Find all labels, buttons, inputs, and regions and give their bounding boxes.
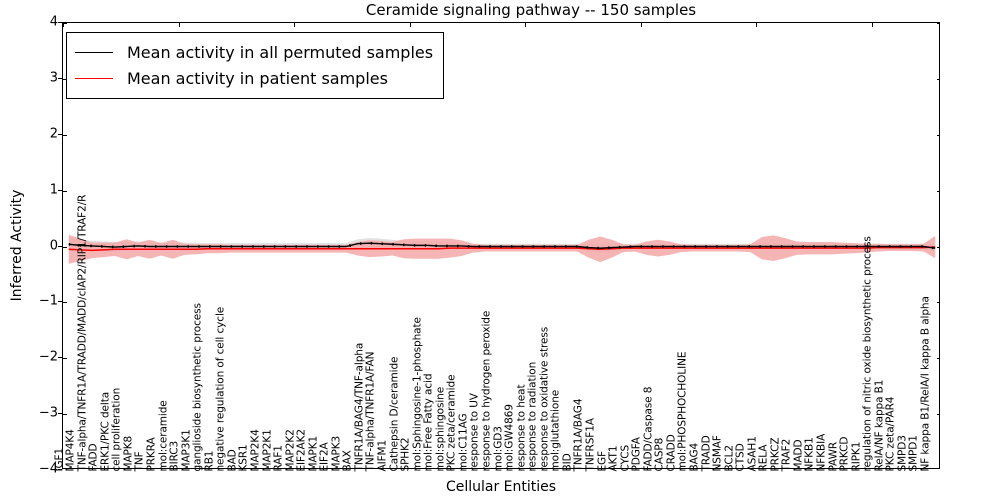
x-tick-mark <box>179 23 180 27</box>
x-axis-label: Cellular Entities <box>62 479 940 495</box>
legend-entry-patient: Mean activity in patient samples <box>75 65 433 91</box>
y-tick-label: 2 <box>18 126 58 141</box>
y-tick-label: 1 <box>18 182 58 197</box>
y-tick-mark <box>63 302 67 303</box>
y-tick-mark <box>63 247 67 248</box>
chart-figure: Ceramide signaling pathway -- 150 sample… <box>0 0 1000 500</box>
legend: Mean activity in all permuted samples Me… <box>66 32 444 99</box>
y-tick-label: 0 <box>18 238 58 253</box>
legend-swatch-patient <box>75 78 113 79</box>
y-tick-label: 3 <box>18 70 58 85</box>
legend-entry-permuted: Mean activity in all permuted samples <box>75 39 433 65</box>
y-tick-mark <box>63 191 67 192</box>
y-tick-mark <box>937 414 940 415</box>
page-title: Ceramide signaling pathway -- 150 sample… <box>62 1 1000 19</box>
legend-swatch-permuted <box>75 52 113 53</box>
y-tick-label: −3 <box>18 406 58 421</box>
x-tick-mark <box>525 23 526 27</box>
y-tick-mark <box>937 358 940 359</box>
y-tick-mark <box>937 135 940 136</box>
y-tick-mark <box>937 191 940 192</box>
y-tick-mark-outer <box>58 469 62 470</box>
y-tick-mark <box>937 247 940 248</box>
legend-label-patient: Mean activity in patient samples <box>127 69 388 88</box>
legend-label-permuted: Mean activity in all permuted samples <box>127 43 433 62</box>
y-tick-label: −2 <box>18 350 58 365</box>
x-tick-mark <box>641 23 642 27</box>
x-tick-mark <box>872 23 873 27</box>
y-tick-mark <box>63 358 67 359</box>
x-tick-mark <box>756 23 757 27</box>
y-tick-mark <box>937 302 940 303</box>
y-tick-label: −4 <box>18 462 58 477</box>
y-tick-mark <box>63 414 67 415</box>
x-tick-mark <box>410 23 411 27</box>
y-tick-label: 4 <box>18 15 58 30</box>
x-tick-mark <box>294 23 295 27</box>
y-tick-mark <box>937 79 940 80</box>
y-tick-mark <box>63 23 67 24</box>
y-tick-label: −1 <box>18 294 58 309</box>
y-tick-mark <box>937 23 940 24</box>
y-tick-mark <box>63 135 67 136</box>
